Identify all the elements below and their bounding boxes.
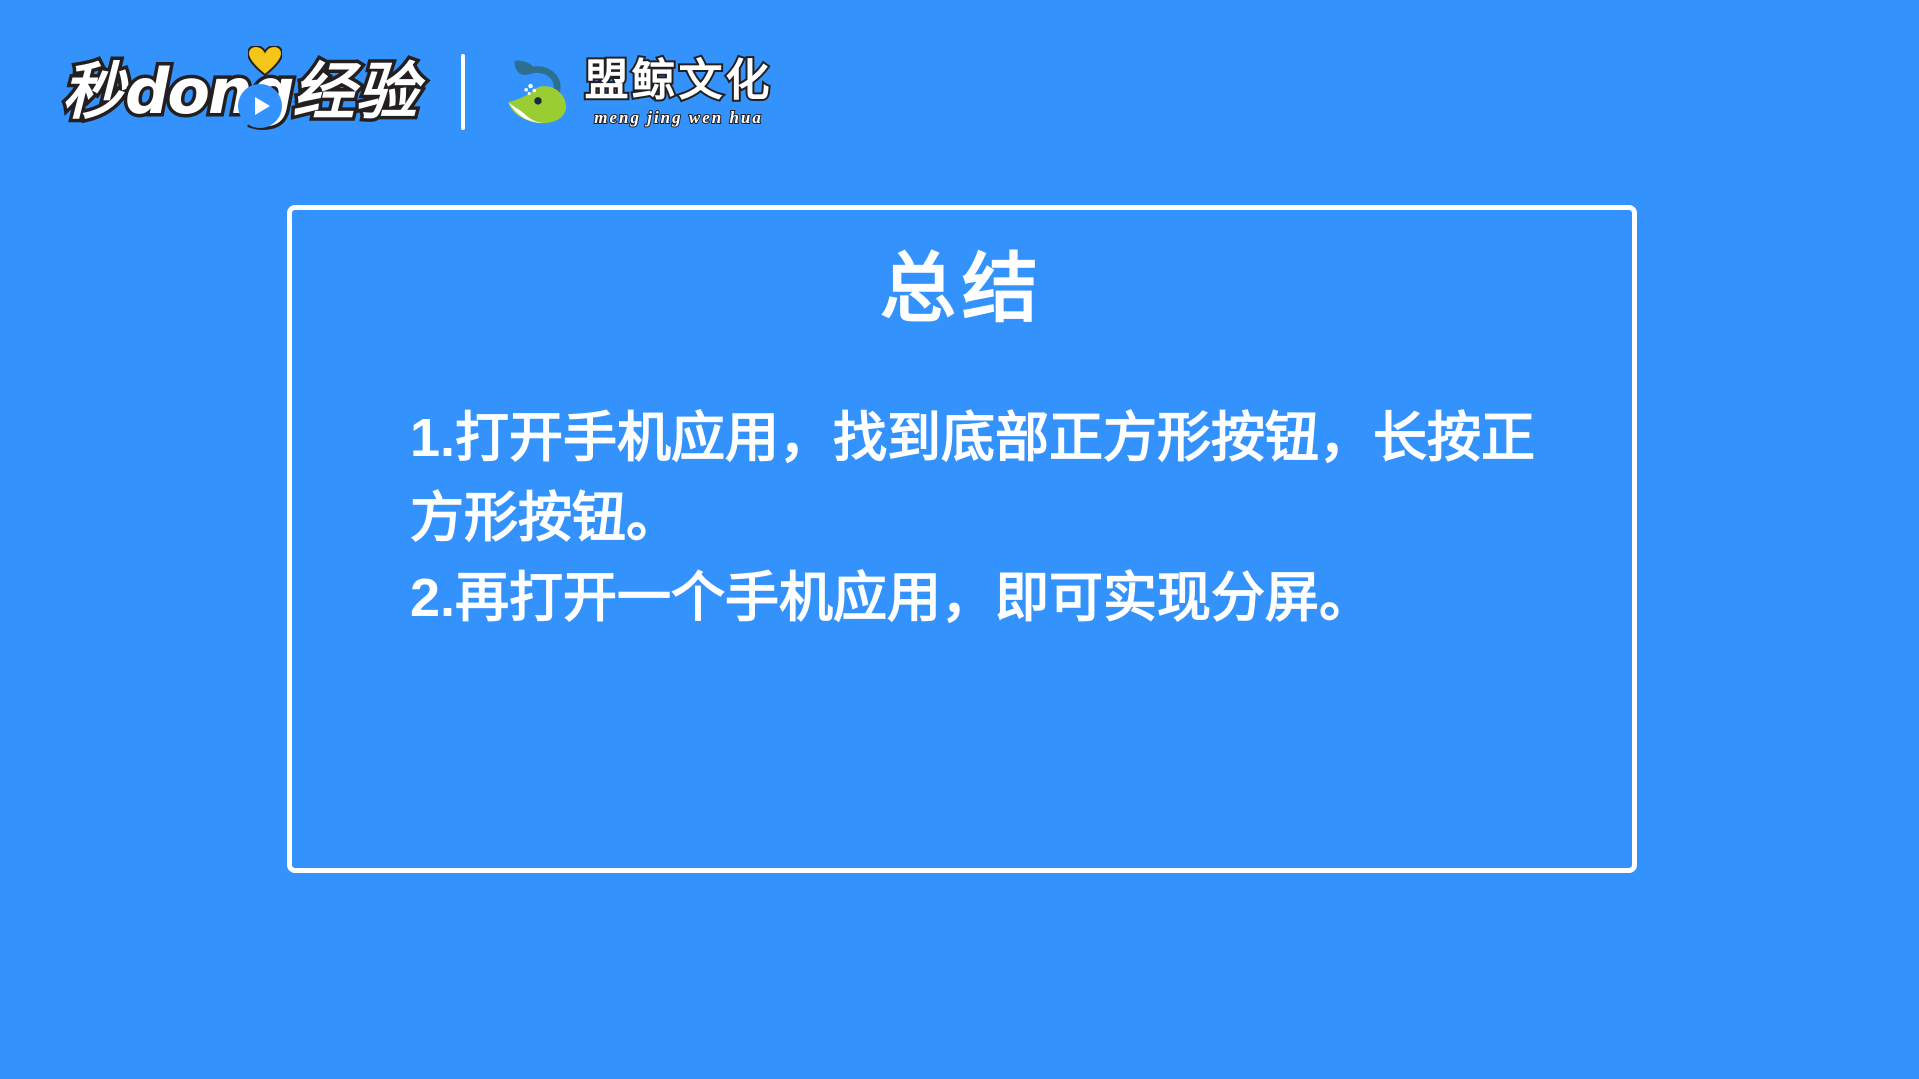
summary-line: 方形按钮。 (410, 479, 1592, 559)
page-title: 总结 (292, 210, 1632, 333)
mengjing-chinese-text: 盟鲸文化 (585, 58, 773, 104)
mengjing-pinyin-text: meng jing wen hua (594, 109, 763, 126)
summary-card: 总结 1.打开手机应用，找到底部正方形按钮，长按正 方形按钮。 2.再打开一个手… (287, 205, 1637, 873)
summary-line: 2.再打开一个手机应用，即可实现分屏。 (410, 559, 1592, 639)
summary-line: 1.打开手机应用，找到底部正方形按钮，长按正 (410, 399, 1592, 479)
whale-icon (501, 55, 575, 129)
play-button-icon (238, 84, 282, 128)
summary-steps-text: 1.打开手机应用，找到底部正方形按钮，长按正 方形按钮。 2.再打开一个手机应用… (292, 333, 1632, 639)
miaodong-jingyan-logo: 秒dong经验 (62, 48, 419, 136)
header-brand-bar: 秒dong经验 (62, 40, 773, 144)
mengjing-text-block: 盟鲸文化 meng jing wen hua (585, 58, 773, 126)
brand-divider (461, 54, 465, 130)
heart-icon (248, 46, 282, 76)
slide-canvas: 秒dong经验 (0, 0, 1919, 1079)
mengjing-wenhua-logo: 盟鲸文化 meng jing wen hua (501, 48, 773, 136)
